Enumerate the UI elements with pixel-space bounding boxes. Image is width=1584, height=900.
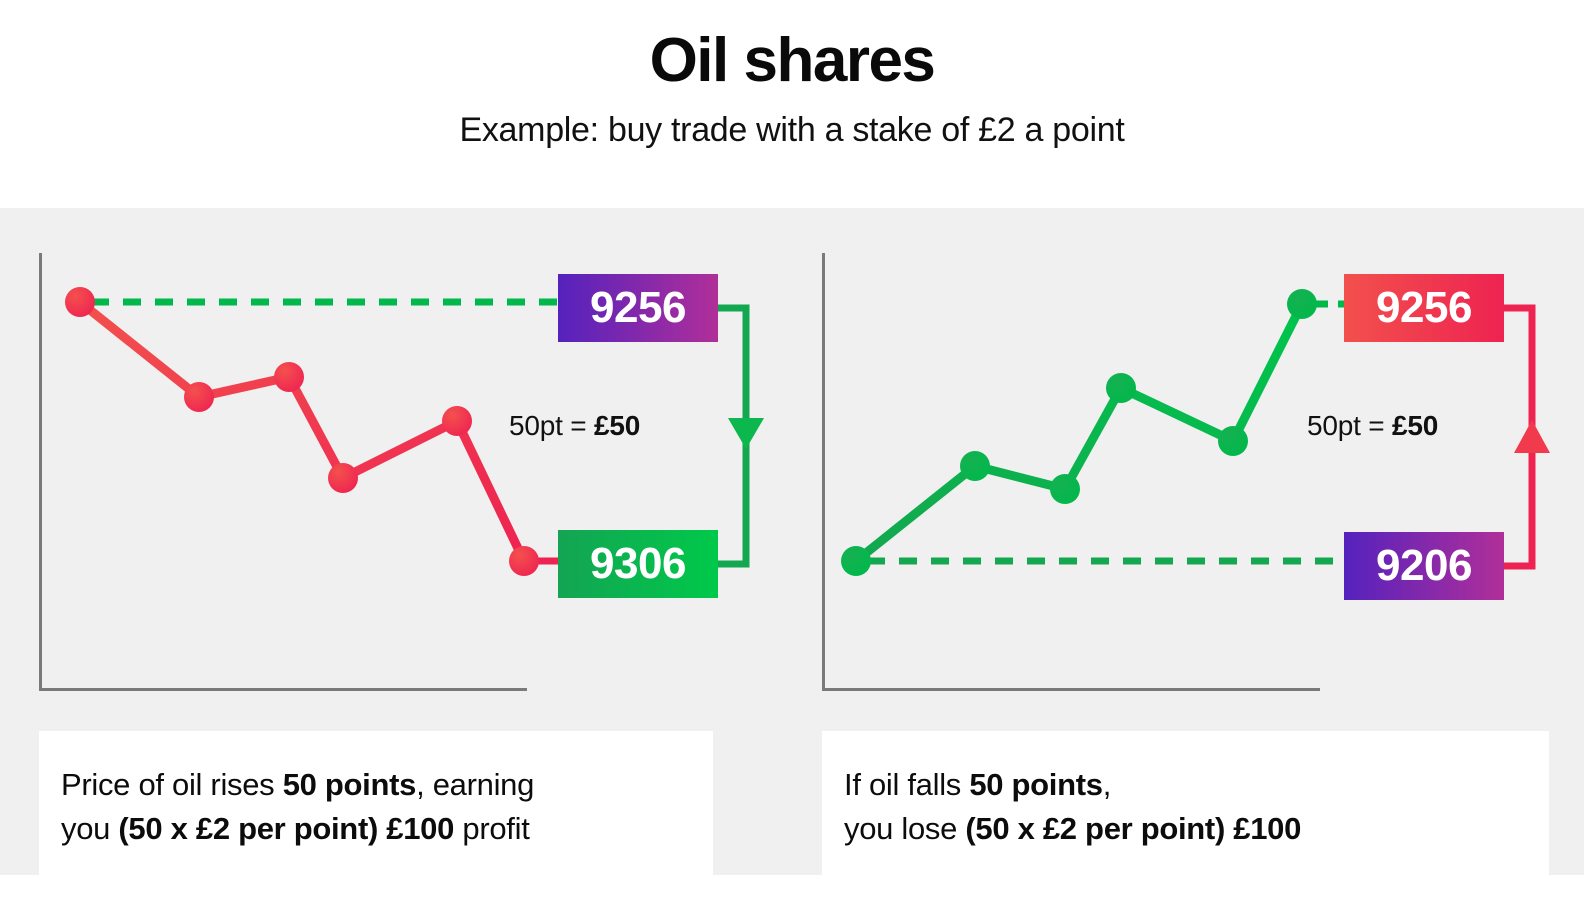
data-point bbox=[328, 463, 358, 493]
point-value-label: 50pt = £50 bbox=[1307, 410, 1438, 442]
close-price-value: 9206 bbox=[1376, 541, 1472, 591]
caption-emphasis: (50 x £2 per point) £100 bbox=[118, 811, 454, 846]
caption-line-1: Price of oil rises 50 points, earning bbox=[61, 763, 691, 807]
page-title: Oil shares bbox=[650, 28, 935, 93]
caption-emphasis: 50 points bbox=[283, 767, 416, 802]
close-price-badge: 9306 bbox=[558, 530, 718, 598]
data-point bbox=[841, 546, 871, 576]
caption-emphasis: (50 x £2 per point) £100 bbox=[965, 811, 1301, 846]
caption-text: Price of oil rises bbox=[61, 767, 283, 802]
open-price-value: 9256 bbox=[590, 283, 686, 333]
data-point bbox=[442, 406, 472, 436]
caption-card-profit: Price of oil rises 50 points, earning yo… bbox=[39, 731, 713, 875]
point-value-prefix: 50pt = bbox=[1307, 410, 1392, 441]
caption-text: profit bbox=[454, 811, 529, 846]
data-point bbox=[184, 382, 214, 412]
data-point bbox=[960, 451, 990, 481]
point-value-prefix: 50pt = bbox=[509, 410, 594, 441]
open-price-badge: 9256 bbox=[558, 274, 718, 342]
caption-line-1: If oil falls 50 points, bbox=[844, 763, 1527, 807]
point-value-amount: £50 bbox=[1392, 410, 1438, 441]
caption-card-loss: If oil falls 50 points, you lose (50 x £… bbox=[822, 731, 1549, 875]
data-point bbox=[274, 362, 304, 392]
header: Oil shares Example: buy trade with a sta… bbox=[0, 0, 1584, 208]
open-price-badge: 9256 bbox=[1344, 274, 1504, 342]
data-point bbox=[1050, 474, 1080, 504]
close-price-badge: 9206 bbox=[1344, 532, 1504, 600]
caption-text: If oil falls bbox=[844, 767, 969, 802]
point-value-label: 50pt = £50 bbox=[509, 410, 640, 442]
data-point bbox=[65, 287, 95, 317]
data-point bbox=[1218, 426, 1248, 456]
data-point bbox=[1106, 373, 1136, 403]
page-subtitle: Example: buy trade with a stake of £2 a … bbox=[459, 111, 1124, 150]
caption-emphasis: 50 points bbox=[969, 767, 1102, 802]
point-value-amount: £50 bbox=[594, 410, 640, 441]
open-price-value: 9256 bbox=[1376, 283, 1472, 333]
data-point bbox=[1287, 289, 1317, 319]
caption-text: , earning bbox=[416, 767, 534, 802]
caption-line-2: you (50 x £2 per point) £100 profit bbox=[61, 807, 691, 851]
infographic-root: Oil shares Example: buy trade with a sta… bbox=[0, 0, 1584, 900]
close-price-value: 9306 bbox=[590, 539, 686, 589]
caption-text: , bbox=[1103, 767, 1111, 802]
caption-text: you lose bbox=[844, 811, 965, 846]
data-point bbox=[509, 546, 539, 576]
caption-text: you bbox=[61, 811, 118, 846]
caption-line-2: you lose (50 x £2 per point) £100 bbox=[844, 807, 1527, 851]
